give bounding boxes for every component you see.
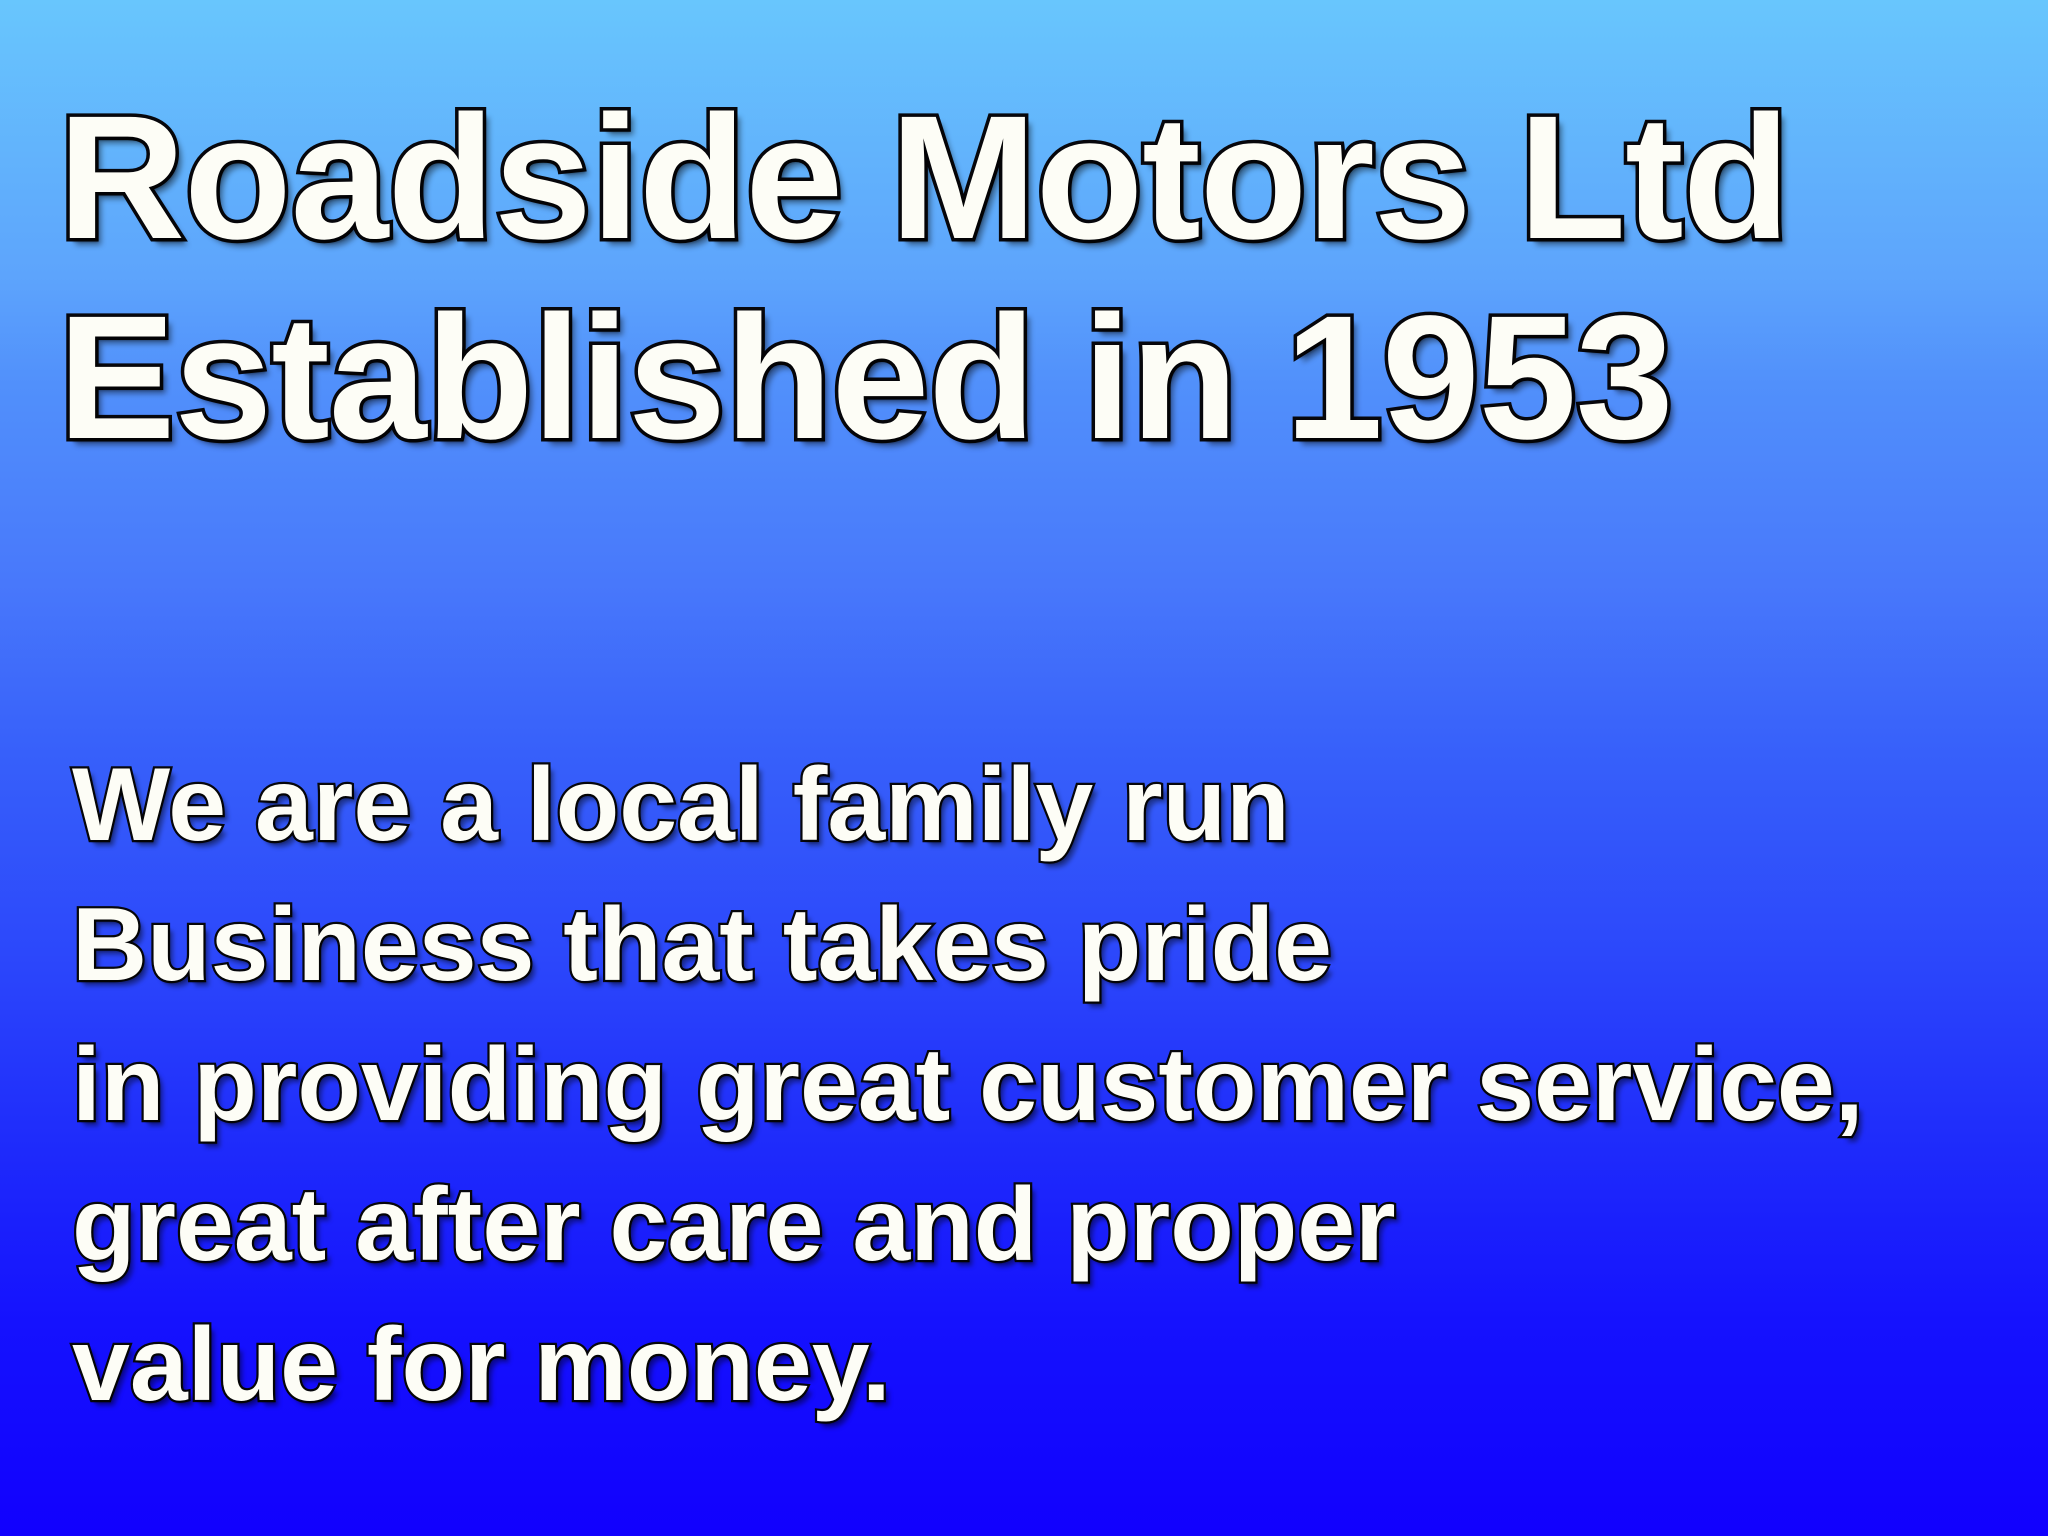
slide-title: Roadside Motors Ltd Established in 1953	[58, 78, 2018, 478]
body-line-3: in providing great customer service,	[72, 1015, 2048, 1155]
title-line-2: Established in 1953	[58, 278, 2018, 478]
slide-body-paragraph: We are a local family run Business that …	[72, 735, 2048, 1435]
title-line-1: Roadside Motors Ltd	[58, 78, 2018, 278]
body-line-1: We are a local family run	[72, 735, 2048, 875]
body-line-2: Business that takes pride	[72, 875, 2048, 1015]
body-line-5: value for money.	[72, 1295, 2048, 1435]
slide-canvas: Roadside Motors Ltd Established in 1953 …	[0, 0, 2048, 1536]
body-line-4: great after care and proper	[72, 1155, 2048, 1295]
